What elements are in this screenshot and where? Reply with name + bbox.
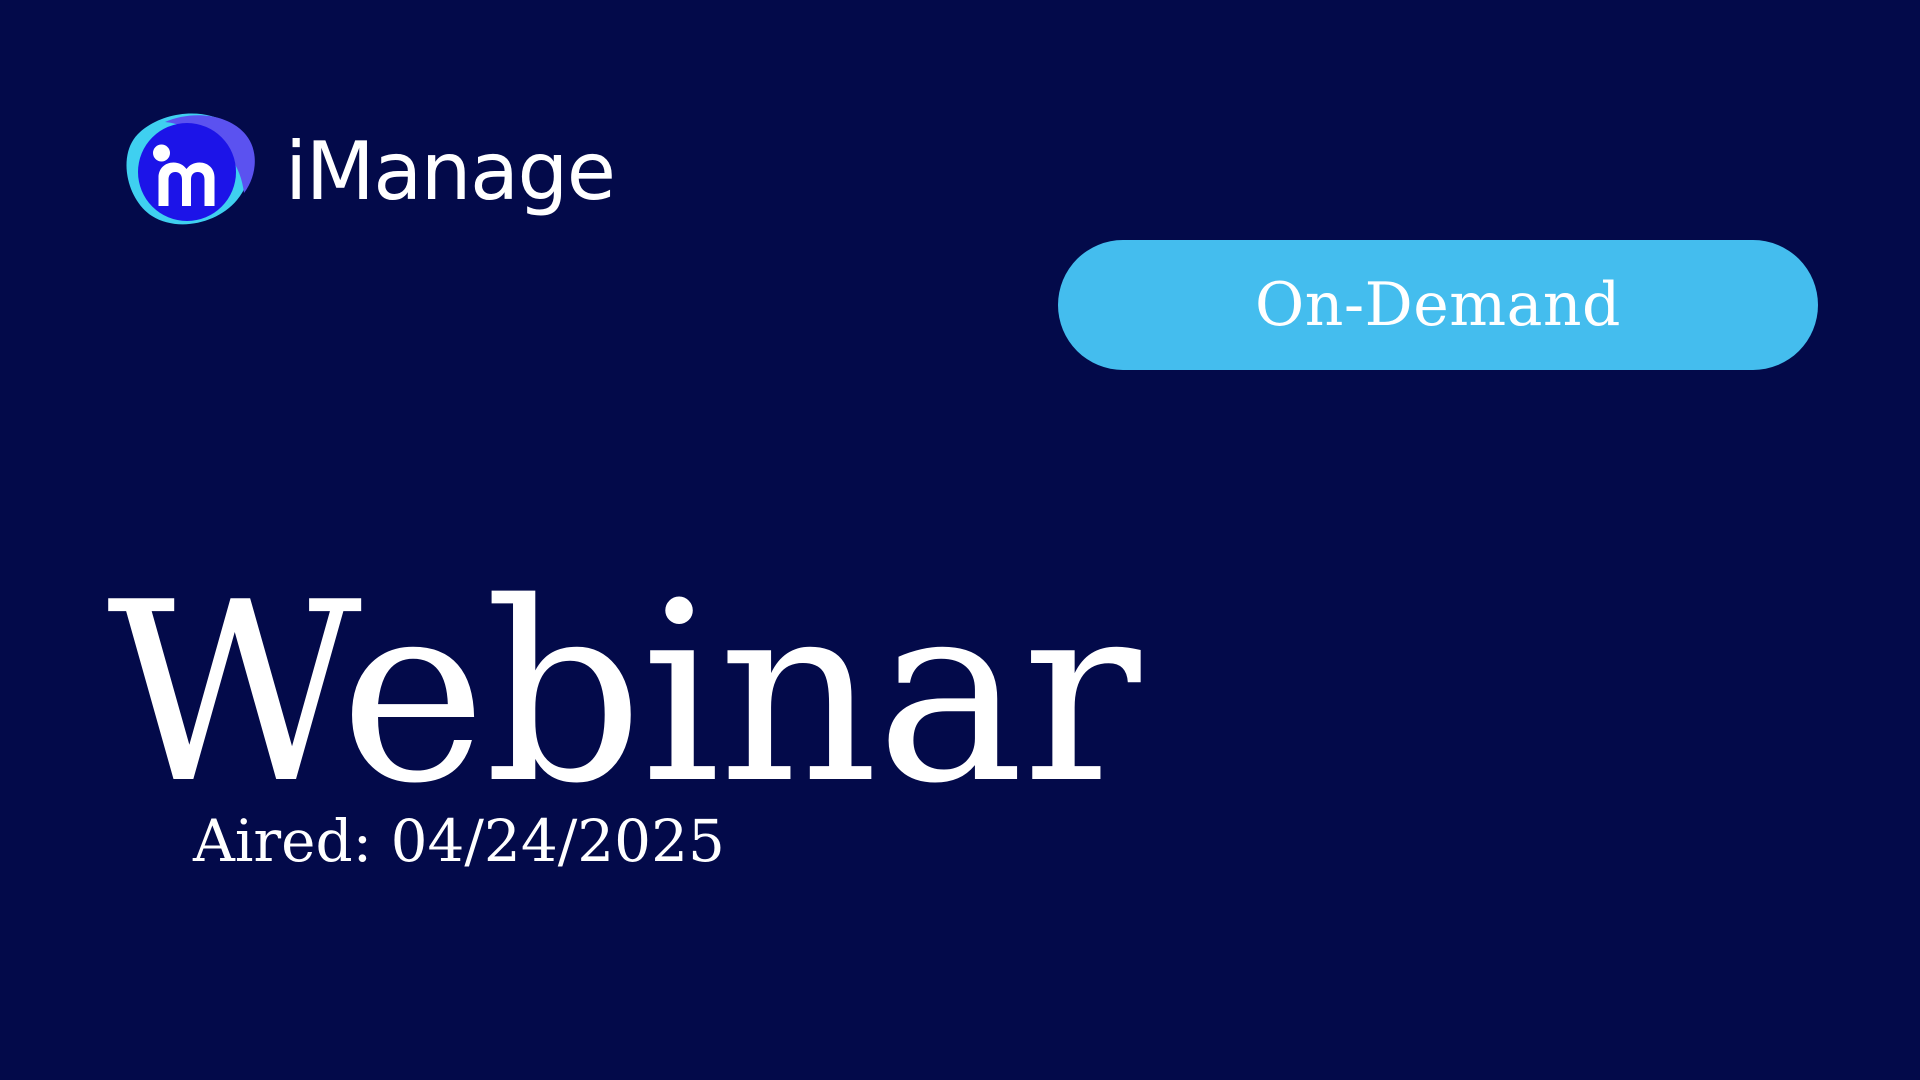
aired-date: Aired: 04/24/2025	[193, 812, 725, 870]
on-demand-badge-label: On-Demand	[1255, 275, 1621, 335]
brand-lockup[interactable]: iManage	[107, 110, 615, 230]
imanage-wordmark: iManage	[285, 132, 615, 212]
imanage-logo-icon	[107, 110, 259, 230]
webinar-promo-card: iManage On-Demand Webinar Aired: 04/24/2…	[0, 0, 1920, 1080]
on-demand-badge: On-Demand	[1058, 240, 1818, 370]
page-title: Webinar	[107, 570, 1139, 818]
